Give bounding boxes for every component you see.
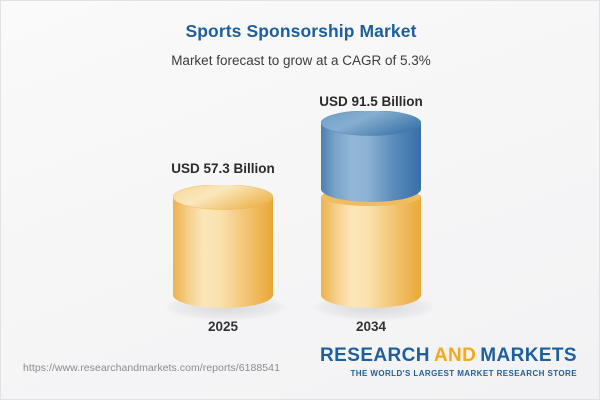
- bar-group-2025: USD 57.3 Billion: [173, 1, 273, 346]
- chart-canvas: Sports Sponsorship Market Market forecas…: [0, 0, 600, 400]
- logo-word-research: RESEARCH: [320, 345, 430, 366]
- bar-segment-base-2034[interactable]: [321, 191, 421, 313]
- logo-wordmark: RESEARCHANDMARKETS: [320, 346, 577, 366]
- bar-segment-growth-2034[interactable]: [321, 111, 421, 207]
- research-and-markets-logo[interactable]: RESEARCHANDMARKETS THE WORLD'S LARGEST M…: [320, 346, 577, 378]
- bar-group-2034: USD 91.5 Billion: [321, 1, 421, 346]
- source-url[interactable]: https://www.researchandmarkets.com/repor…: [23, 362, 280, 374]
- logo-word-and: AND: [434, 345, 476, 366]
- bar-value-label-2025: USD 57.3 Billion: [123, 161, 323, 176]
- logo-tagline: THE WORLD'S LARGEST MARKET RESEARCH STOR…: [320, 369, 577, 378]
- bar-value-label-2034: USD 91.5 Billion: [271, 94, 471, 109]
- logo-word-markets: MARKETS: [480, 345, 577, 366]
- bar-cylinder-2025[interactable]: [173, 185, 273, 313]
- chart-plot-area: USD 57.3 Billion: [1, 1, 600, 346]
- bar-category-label-2034: 2034: [271, 319, 471, 334]
